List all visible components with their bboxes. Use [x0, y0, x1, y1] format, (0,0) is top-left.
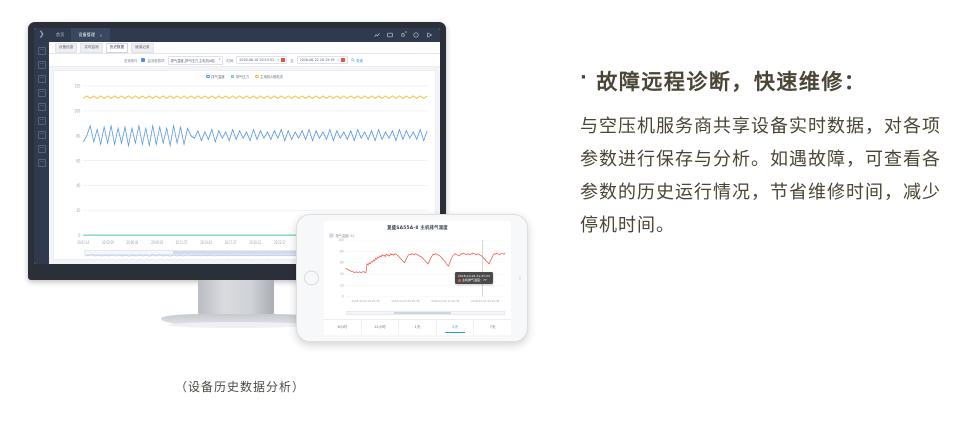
speaker-icon	[519, 277, 522, 280]
tooltip-value-row: 主机排气温度：77	[458, 278, 490, 283]
right-text-column: · 故障远程诊断，快速维修： 与空压机服务商共享设备实时数据，对各项参数进行保存…	[580, 66, 950, 242]
sub-tabbar: 设备信息 实时监测 历史数据 维保记录	[49, 42, 440, 54]
sidebar-item-device[interactable]	[38, 89, 46, 97]
sidebar-item-report[interactable]	[38, 103, 46, 111]
svg-text:80: 80	[340, 249, 344, 253]
svg-text:80: 80	[76, 133, 80, 139]
monitor-param-label: 监测参数项	[148, 58, 165, 63]
svg-text:2018-10-24 15:10:38: 2018-10-24 15:10:38	[431, 299, 459, 303]
legend-label: 排气压力	[236, 74, 250, 79]
start-date-input[interactable]: 2018-06-18 20:15:52 ✕	[236, 56, 287, 64]
sub-tab-history-data[interactable]: 历史数据	[106, 43, 128, 53]
figure-caption: （设备历史数据分析）	[120, 378, 360, 395]
svg-text:20:22:57: 20:22:57	[274, 241, 286, 246]
help-icon[interactable]	[413, 32, 419, 38]
sub-tab-realtime-monitor[interactable]: 实时监测	[80, 43, 102, 53]
phone-tab-2d[interactable]: 2天	[437, 320, 475, 335]
sidebar-item-lock[interactable]	[38, 145, 46, 153]
sub-tab-device-info[interactable]: 设备信息	[55, 43, 77, 53]
phone-range-tabs: 6小时 12小时 1天 2天 7天	[324, 319, 511, 335]
home-button-icon[interactable]	[304, 271, 319, 286]
legend-label: 主电机A相电流	[260, 74, 283, 79]
clear-icon[interactable]: ✕	[277, 58, 280, 62]
sidebar-item-doc[interactable]	[38, 159, 46, 167]
svg-text:0: 0	[342, 295, 344, 299]
svg-text:20: 20	[76, 207, 80, 213]
sub-tab-maintenance-records[interactable]: 维保记录	[131, 43, 153, 53]
monitor-foot-shadow	[168, 322, 306, 328]
bell-icon[interactable]	[400, 32, 406, 38]
legend-item-exhaust-pressure[interactable]: 排气压力	[231, 74, 250, 79]
monitor-neck	[198, 280, 274, 316]
legend-marker-icon	[206, 75, 210, 79]
query-condition-label: 查询条件	[124, 58, 138, 63]
end-date-value: 2018-06-22 20:15:59	[300, 58, 335, 62]
svg-text:20:01:14: 20:01:14	[77, 241, 89, 246]
svg-text:40: 40	[76, 182, 80, 188]
phone-datazoom-slider[interactable]	[346, 311, 505, 315]
sidebar-item-clipboard[interactable]	[38, 47, 46, 55]
section-body-text: 与空压机服务商共享设备实时数据，对各项参数进行保存与分析。如遇故障，可查看各参数…	[580, 110, 950, 242]
legend-item-exhaust-temp[interactable]: 排气温度	[206, 74, 225, 79]
search-icon	[351, 58, 355, 62]
sidebar-item-window[interactable]	[38, 75, 46, 83]
section-heading: · 故障远程诊断，快速维修：	[580, 66, 950, 96]
sidebar-item-grid[interactable]	[38, 61, 46, 69]
svg-text:120: 120	[74, 83, 80, 89]
sidebar-item-apps[interactable]	[38, 117, 46, 125]
search-label: 查询	[356, 58, 363, 63]
svg-text:20:09:19: 20:09:19	[151, 241, 163, 246]
bullet-icon: ·	[580, 66, 588, 90]
svg-text:20:11:57: 20:11:57	[176, 241, 188, 246]
svg-text:2018-10-24 04:20:38: 2018-10-24 04:20:38	[352, 299, 380, 303]
notification-badge	[405, 31, 407, 33]
svg-text:100: 100	[338, 238, 344, 242]
phone-page-title: 复盛SA55A-8 主机排气温度	[324, 221, 511, 231]
phone-datazoom-handle[interactable]	[394, 312, 451, 314]
chart-icon[interactable]	[374, 32, 380, 38]
tooltip-marker-icon	[458, 279, 461, 282]
sidebar-expand-icon[interactable]: ❯	[39, 31, 45, 38]
svg-text:20:03:59: 20:03:59	[102, 241, 114, 246]
svg-text:20:20:12: 20:20:12	[249, 241, 261, 246]
header-icons	[374, 28, 440, 42]
calendar-icon[interactable]	[341, 58, 345, 62]
svg-text:20:17:27: 20:17:27	[225, 241, 237, 246]
slide-root: ❯	[0, 0, 970, 422]
tooltip-value: 主机排气温度：77	[462, 278, 487, 283]
message-icon[interactable]	[387, 32, 393, 38]
svg-text:0: 0	[78, 232, 80, 238]
phone-tab-7d[interactable]: 7天	[474, 320, 511, 335]
svg-text:20:14:42: 20:14:42	[200, 241, 212, 246]
tab-device-management[interactable]: 设备管理 ✕	[71, 28, 109, 42]
legend-marker-icon	[231, 75, 235, 79]
legend-item-motor-current[interactable]: 主电机A相电流	[255, 74, 283, 79]
mobile-phone: 复盛SA55A-8 主机排气温度 排气温度(℃) 020406080100201…	[296, 214, 528, 342]
date-range-to-label: 至	[290, 58, 293, 63]
phone-tab-6h[interactable]: 6小时	[324, 320, 362, 335]
legend-label: 排气温度	[211, 74, 225, 79]
tab-device-management-label: 设备管理	[78, 32, 95, 38]
filter-toggle-icon[interactable]	[141, 58, 145, 62]
start-date-value: 2018-06-18 20:15:52	[239, 58, 274, 62]
param-select[interactable]: 排气温度,排气压力,主电机A相	[168, 56, 224, 65]
sidebar-item-alert[interactable]	[38, 131, 46, 139]
svg-text:2018-10-24 20:14:38: 2018-10-24 20:14:38	[471, 299, 499, 303]
filter-bar: 查询条件 监测参数项 排气温度,排气压力,主电机A相 时间 2018-06-18…	[49, 54, 440, 67]
apple-logo-icon	[233, 251, 242, 261]
svg-text:40: 40	[340, 272, 344, 276]
end-date-input[interactable]: 2018-06-22 20:15:59 ✕	[297, 56, 348, 64]
app-sidebar: ❯	[34, 28, 49, 264]
phone-tab-1d[interactable]: 1天	[399, 320, 437, 335]
chart-legend: 排气温度 排气压力 主电机A相电流	[54, 74, 435, 79]
svg-text:2018-10-24 09:45:38: 2018-10-24 09:45:38	[391, 299, 419, 303]
close-icon[interactable]: ✕	[99, 33, 103, 38]
svg-text:20:06:44: 20:06:44	[127, 241, 139, 246]
section-heading-text: 故障远程诊断，快速维修：	[596, 66, 866, 96]
tab-home[interactable]: 首页	[49, 28, 71, 42]
phone-tab-12h[interactable]: 12小时	[362, 320, 400, 335]
svg-text:60: 60	[76, 158, 80, 164]
logout-icon[interactable]	[426, 32, 432, 38]
svg-text:60: 60	[340, 261, 344, 265]
svg-text:20: 20	[340, 283, 344, 287]
app-tabbar: 首页 设备管理 ✕	[49, 28, 440, 42]
svg-text:100: 100	[74, 108, 80, 114]
search-button[interactable]: 查询	[351, 58, 363, 63]
clear-icon[interactable]: ✕	[337, 58, 340, 62]
time-label: 时间	[226, 58, 233, 63]
calendar-icon[interactable]	[281, 58, 285, 62]
tab-home-label: 首页	[56, 32, 64, 38]
chart-tooltip: 2018-10-24 21:47:23 主机排气温度：77	[455, 272, 493, 284]
phone-screen: 复盛SA55A-8 主机排气温度 排气温度(℃) 020406080100201…	[324, 221, 511, 335]
legend-marker-icon	[255, 75, 259, 79]
